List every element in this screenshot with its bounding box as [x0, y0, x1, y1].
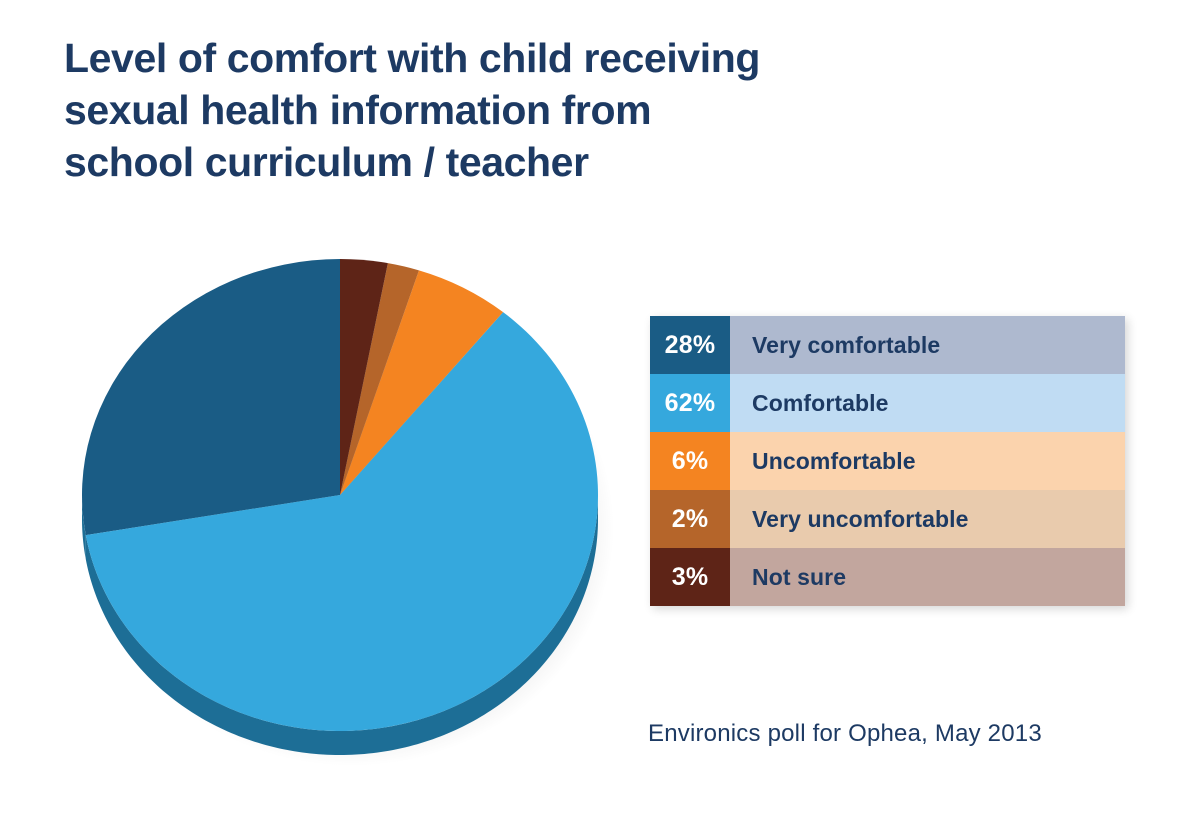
legend-label-very-uncomfortable: Very uncomfortable: [730, 490, 1125, 548]
legend-label-uncomfortable: Uncomfortable: [730, 432, 1125, 490]
pie-chart: [60, 238, 620, 778]
legend-swatch-comfortable: 62%: [650, 374, 730, 432]
legend: 28% Very comfortable 62% Comfortable 6% …: [650, 316, 1125, 606]
pie-chart-svg: [60, 238, 620, 778]
legend-row[interactable]: 3% Not sure: [650, 548, 1125, 606]
legend-label-not-sure: Not sure: [730, 548, 1125, 606]
legend-label-very-comfortable: Very comfortable: [730, 316, 1125, 374]
legend-swatch-very-uncomfortable: 2%: [650, 490, 730, 548]
legend-row[interactable]: 28% Very comfortable: [650, 316, 1125, 374]
source-note: Environics poll for Ophea, May 2013: [648, 720, 1042, 748]
legend-row[interactable]: 62% Comfortable: [650, 374, 1125, 432]
pie-slice-group: [82, 259, 598, 731]
legend-row[interactable]: 2% Very uncomfortable: [650, 490, 1125, 548]
page-title-line-1: Level of comfort with child receiving: [64, 32, 904, 84]
legend-row[interactable]: 6% Uncomfortable: [650, 432, 1125, 490]
legend-swatch-uncomfortable: 6%: [650, 432, 730, 490]
pie-slice-very-comfortable[interactable]: [82, 259, 340, 535]
legend-swatch-very-comfortable: 28%: [650, 316, 730, 374]
page-title-line-3: school curriculum / teacher: [64, 136, 904, 188]
page-title-line-2: sexual health information from: [64, 84, 904, 136]
page-title: Level of comfort with child receiving se…: [64, 32, 904, 188]
legend-swatch-not-sure: 3%: [650, 548, 730, 606]
legend-label-comfortable: Comfortable: [730, 374, 1125, 432]
infographic-canvas: Level of comfort with child receiving se…: [0, 0, 1200, 836]
